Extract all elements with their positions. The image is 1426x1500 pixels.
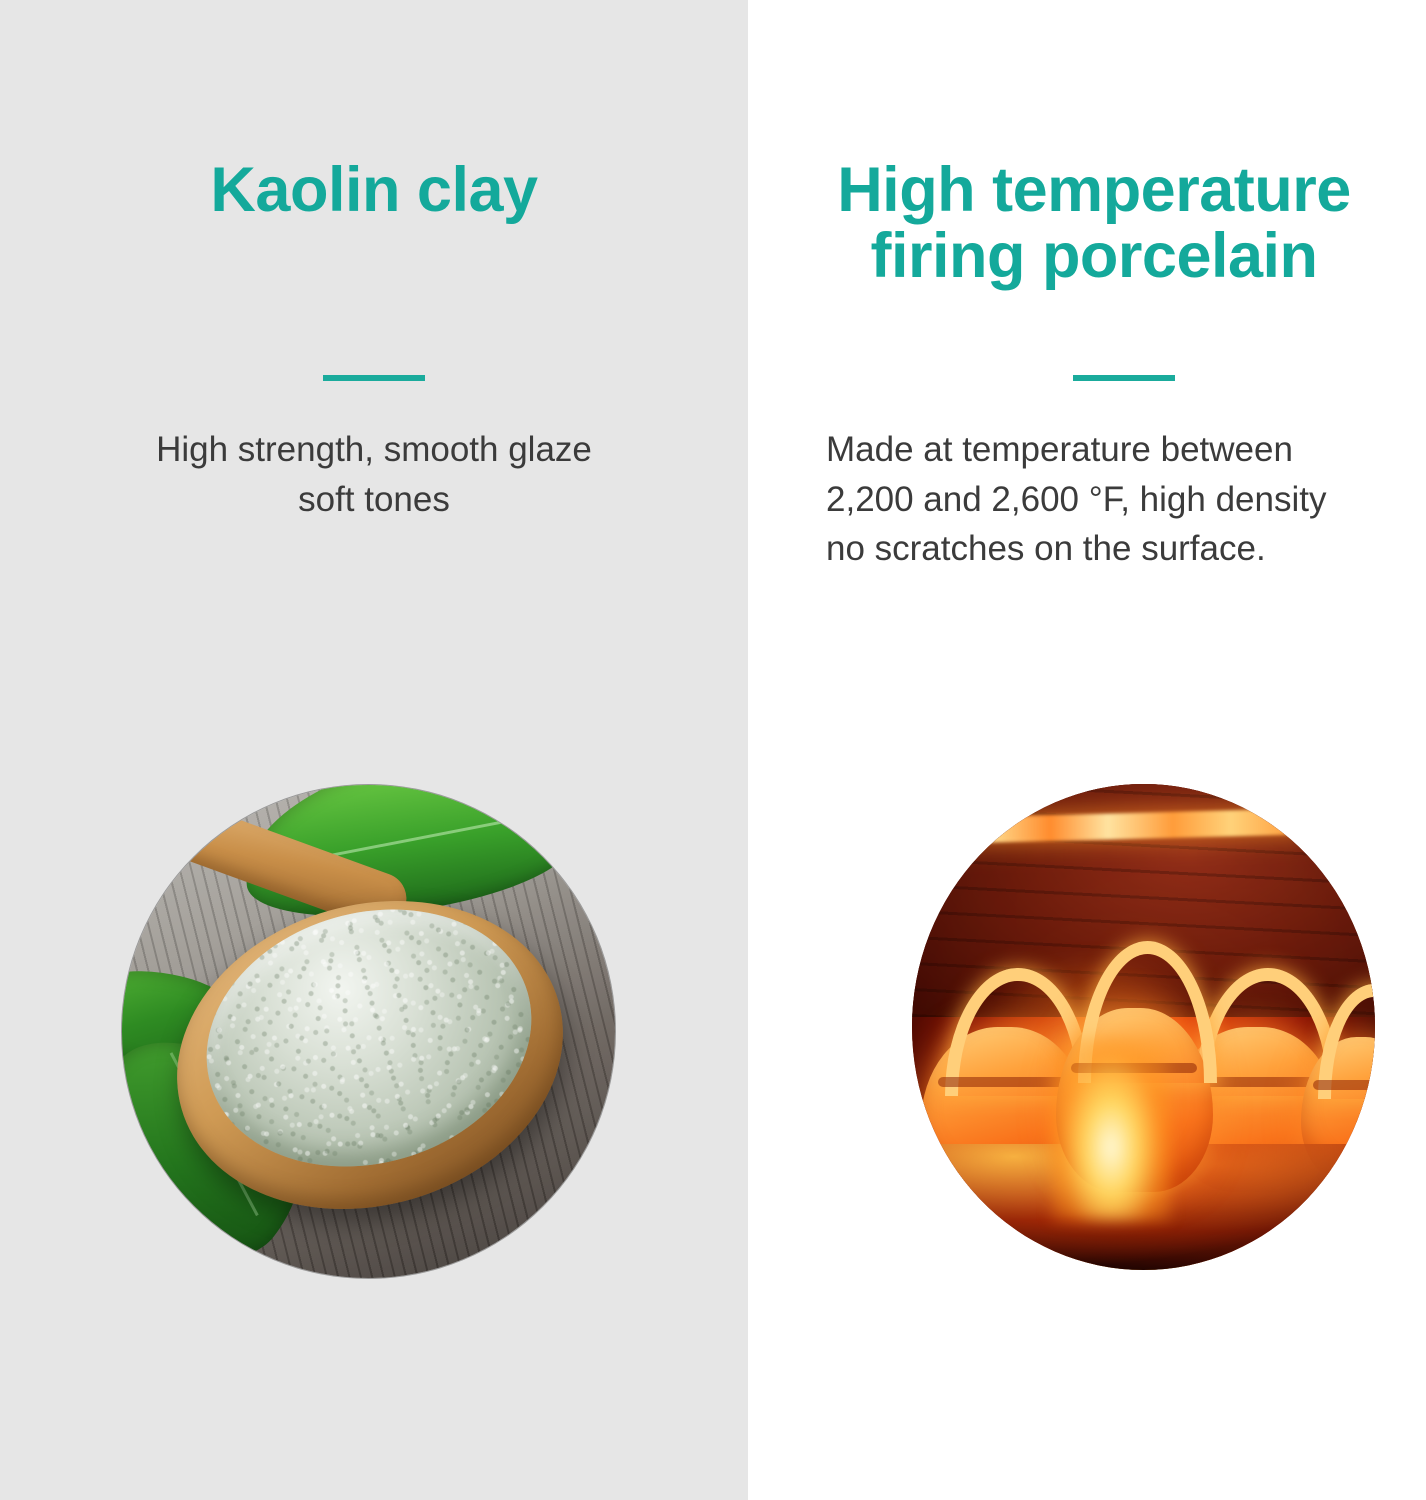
panel-body-high-temperature-firing: Made at temperature between 2,200 and 2,… [826,425,1426,574]
kaolin-clay-photo [122,785,615,1278]
panel-kaolin-clay: Kaolin clay High strength, smooth glaze … [0,0,748,1500]
panel-heading-kaolin-clay: Kaolin clay [0,158,748,224]
heading-divider-right [1073,375,1175,381]
panel-body-kaolin-clay: High strength, smooth glaze soft tones [0,425,748,524]
kaolin-clay-photo-inner [122,785,615,1278]
kiln-firing-photo [912,784,1375,1270]
product-feature-panel: Kaolin clay High strength, smooth glaze … [0,0,1426,1500]
kiln-firing-photo-inner [912,784,1375,1270]
panel-heading-high-temperature-firing: High temperature firing porcelain [748,158,1426,289]
heading-divider-left [323,375,425,381]
kiln-hot-core-glow [1051,1037,1171,1222]
panel-high-temperature-firing: High temperature firing porcelain Made a… [748,0,1426,1500]
